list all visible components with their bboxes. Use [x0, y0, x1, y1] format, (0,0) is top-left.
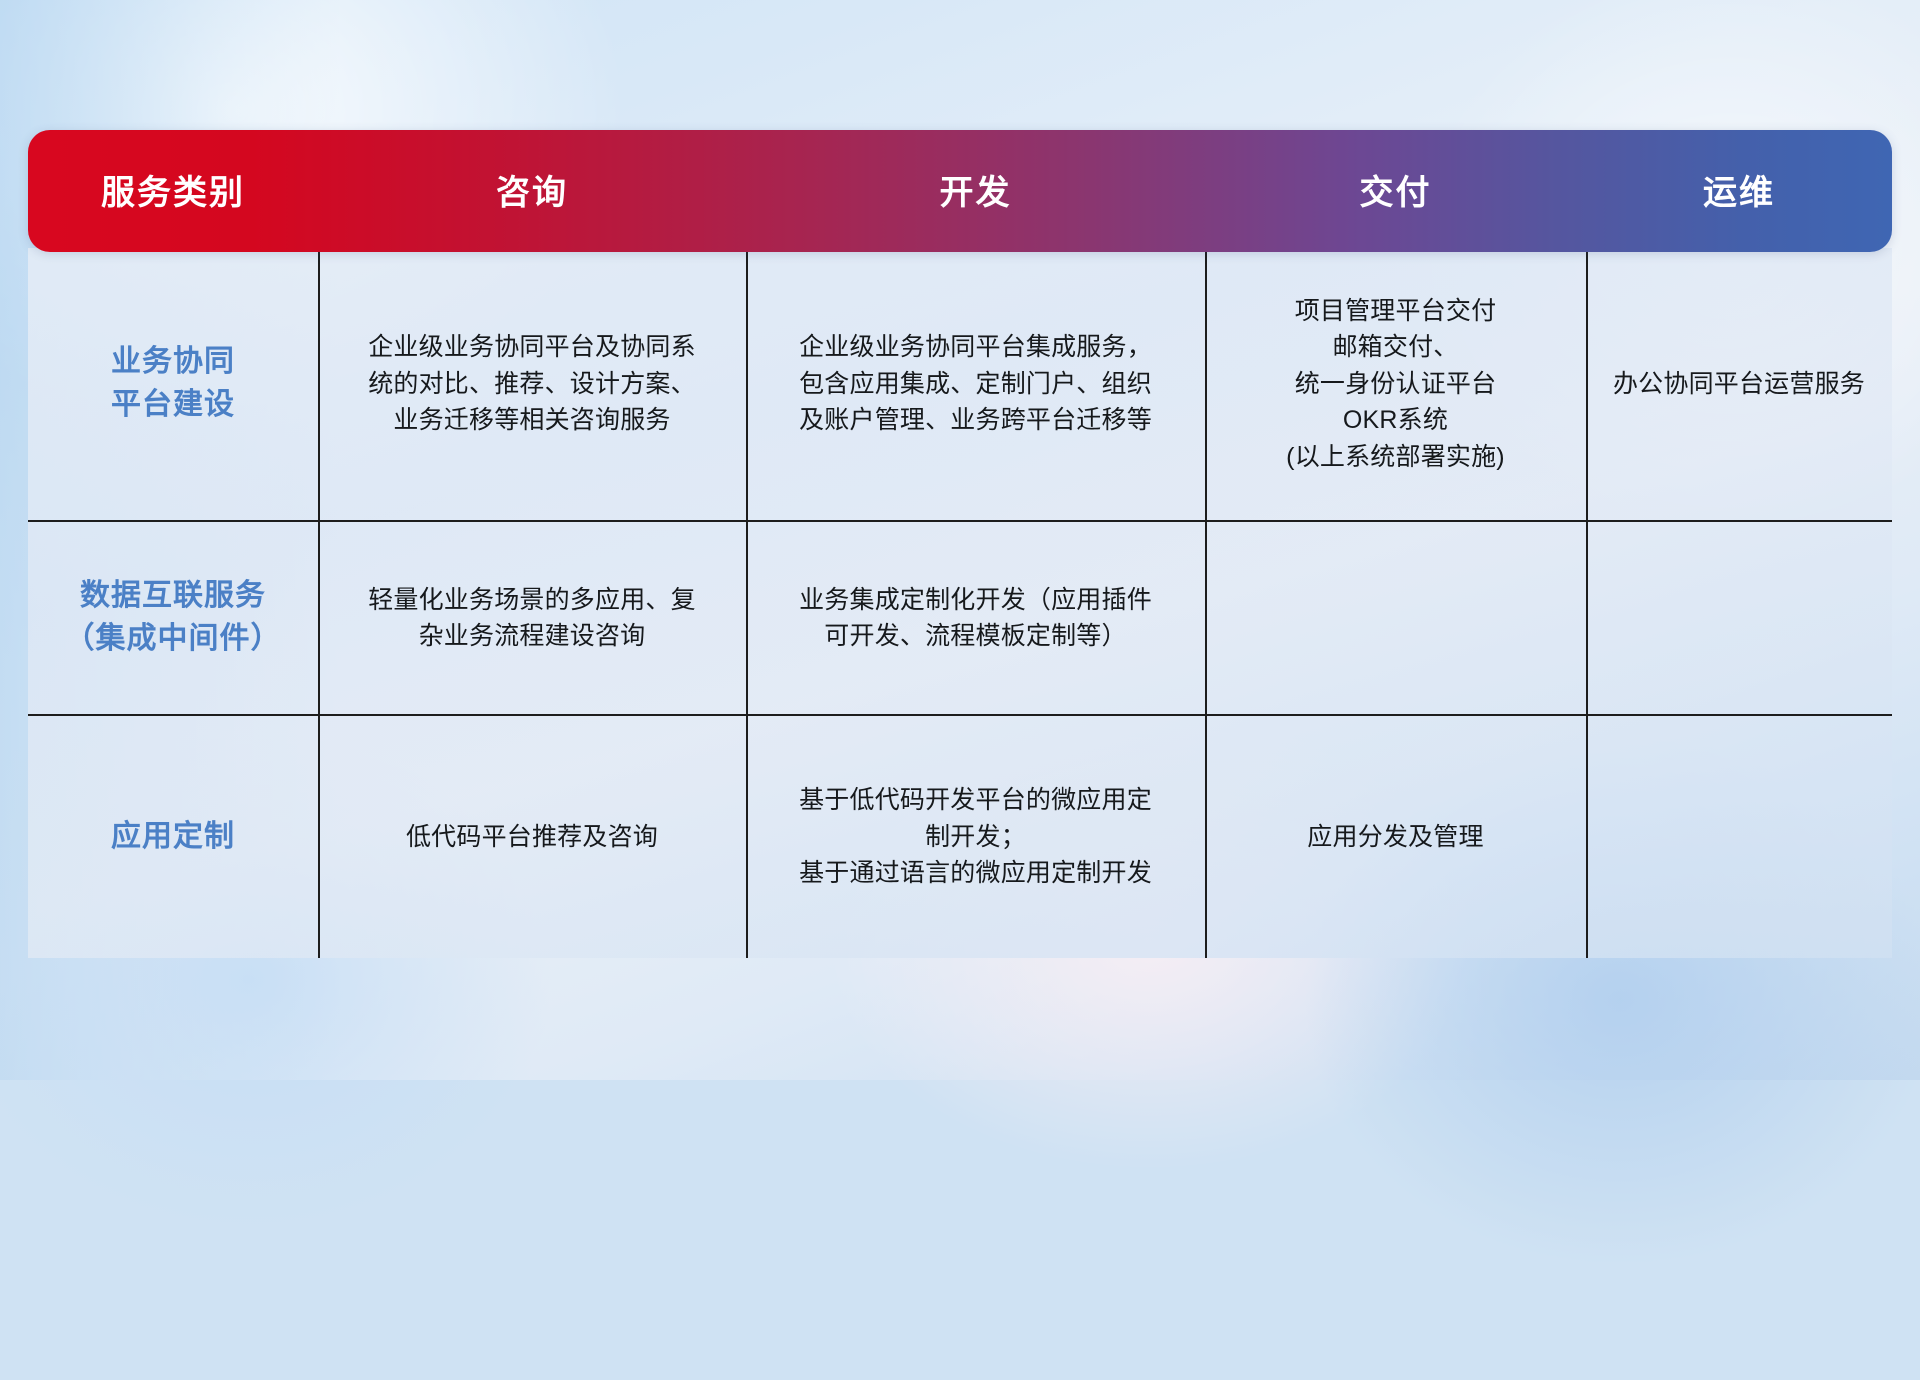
- column-header-category: 服务类别: [28, 172, 318, 210]
- row-label: 应用定制: [111, 816, 235, 859]
- table-header-row: 服务类别 咨询 开发 交付 运维: [28, 130, 1892, 252]
- cell-text: 轻量化业务场景的多应用、复 杂业务流程建设咨询: [368, 582, 696, 655]
- cell-consulting: 企业级业务协同平台及协同系 统的对比、推荐、设计方案、 业务迁移等相关咨询服务: [318, 248, 746, 520]
- row-label-cell: 应用定制: [28, 716, 318, 958]
- column-header-development: 开发: [746, 172, 1205, 210]
- cell-text: 基于低代码开发平台的微应用定 制开发； 基于通过语言的微应用定制开发: [799, 782, 1152, 892]
- cell-text: 办公协同平台运营服务: [1613, 366, 1865, 403]
- row-label-cell: 业务协同 平台建设: [28, 248, 318, 520]
- cell-operations: [1586, 522, 1892, 714]
- column-header-delivery: 交付: [1205, 172, 1586, 210]
- row-label: 数据互联服务 （集成中间件）: [65, 575, 282, 660]
- cell-text: 企业级业务协同平台及协同系 统的对比、推荐、设计方案、 业务迁移等相关咨询服务: [368, 329, 696, 439]
- cell-operations: [1586, 716, 1892, 958]
- cell-development: 企业级业务协同平台集成服务， 包含应用集成、定制门户、组织 及账户管理、业务跨平…: [746, 248, 1205, 520]
- table-row: 应用定制 低代码平台推荐及咨询 基于低代码开发平台的微应用定 制开发； 基于通过…: [28, 716, 1892, 958]
- cell-delivery: [1205, 522, 1586, 714]
- column-header-operations: 运维: [1586, 172, 1892, 210]
- cell-delivery: 应用分发及管理: [1205, 716, 1586, 958]
- cell-delivery: 项目管理平台交付 邮箱交付、 统一身份认证平台 OKR系统 (以上系统部署实施): [1205, 248, 1586, 520]
- cell-text: 企业级业务协同平台集成服务， 包含应用集成、定制门户、组织 及账户管理、业务跨平…: [799, 329, 1152, 439]
- cell-text: 低代码平台推荐及咨询: [406, 819, 658, 856]
- cell-operations: 办公协同平台运营服务: [1586, 248, 1892, 520]
- cell-development: 基于低代码开发平台的微应用定 制开发； 基于通过语言的微应用定制开发: [746, 716, 1205, 958]
- row-label-cell: 数据互联服务 （集成中间件）: [28, 522, 318, 714]
- cell-text: 业务集成定制化开发（应用插件 可开发、流程模板定制等）: [799, 582, 1152, 655]
- cell-development: 业务集成定制化开发（应用插件 可开发、流程模板定制等）: [746, 522, 1205, 714]
- table-rows: 业务协同 平台建设 企业级业务协同平台及协同系 统的对比、推荐、设计方案、 业务…: [28, 248, 1892, 958]
- row-label: 业务协同 平台建设: [111, 341, 235, 426]
- cell-consulting: 低代码平台推荐及咨询: [318, 716, 746, 958]
- cell-text: 项目管理平台交付 邮箱交付、 统一身份认证平台 OKR系统 (以上系统部署实施): [1286, 293, 1505, 476]
- table-row: 数据互联服务 （集成中间件） 轻量化业务场景的多应用、复 杂业务流程建设咨询 业…: [28, 522, 1892, 714]
- service-category-table: 服务类别 咨询 开发 交付 运维 业务协同 平台建设 企业级业务协同平台及协同系…: [28, 130, 1892, 958]
- cell-text: 应用分发及管理: [1307, 819, 1483, 856]
- cell-consulting: 轻量化业务场景的多应用、复 杂业务流程建设咨询: [318, 522, 746, 714]
- column-header-consulting: 咨询: [318, 172, 746, 210]
- table-row: 业务协同 平台建设 企业级业务协同平台及协同系 统的对比、推荐、设计方案、 业务…: [28, 248, 1892, 520]
